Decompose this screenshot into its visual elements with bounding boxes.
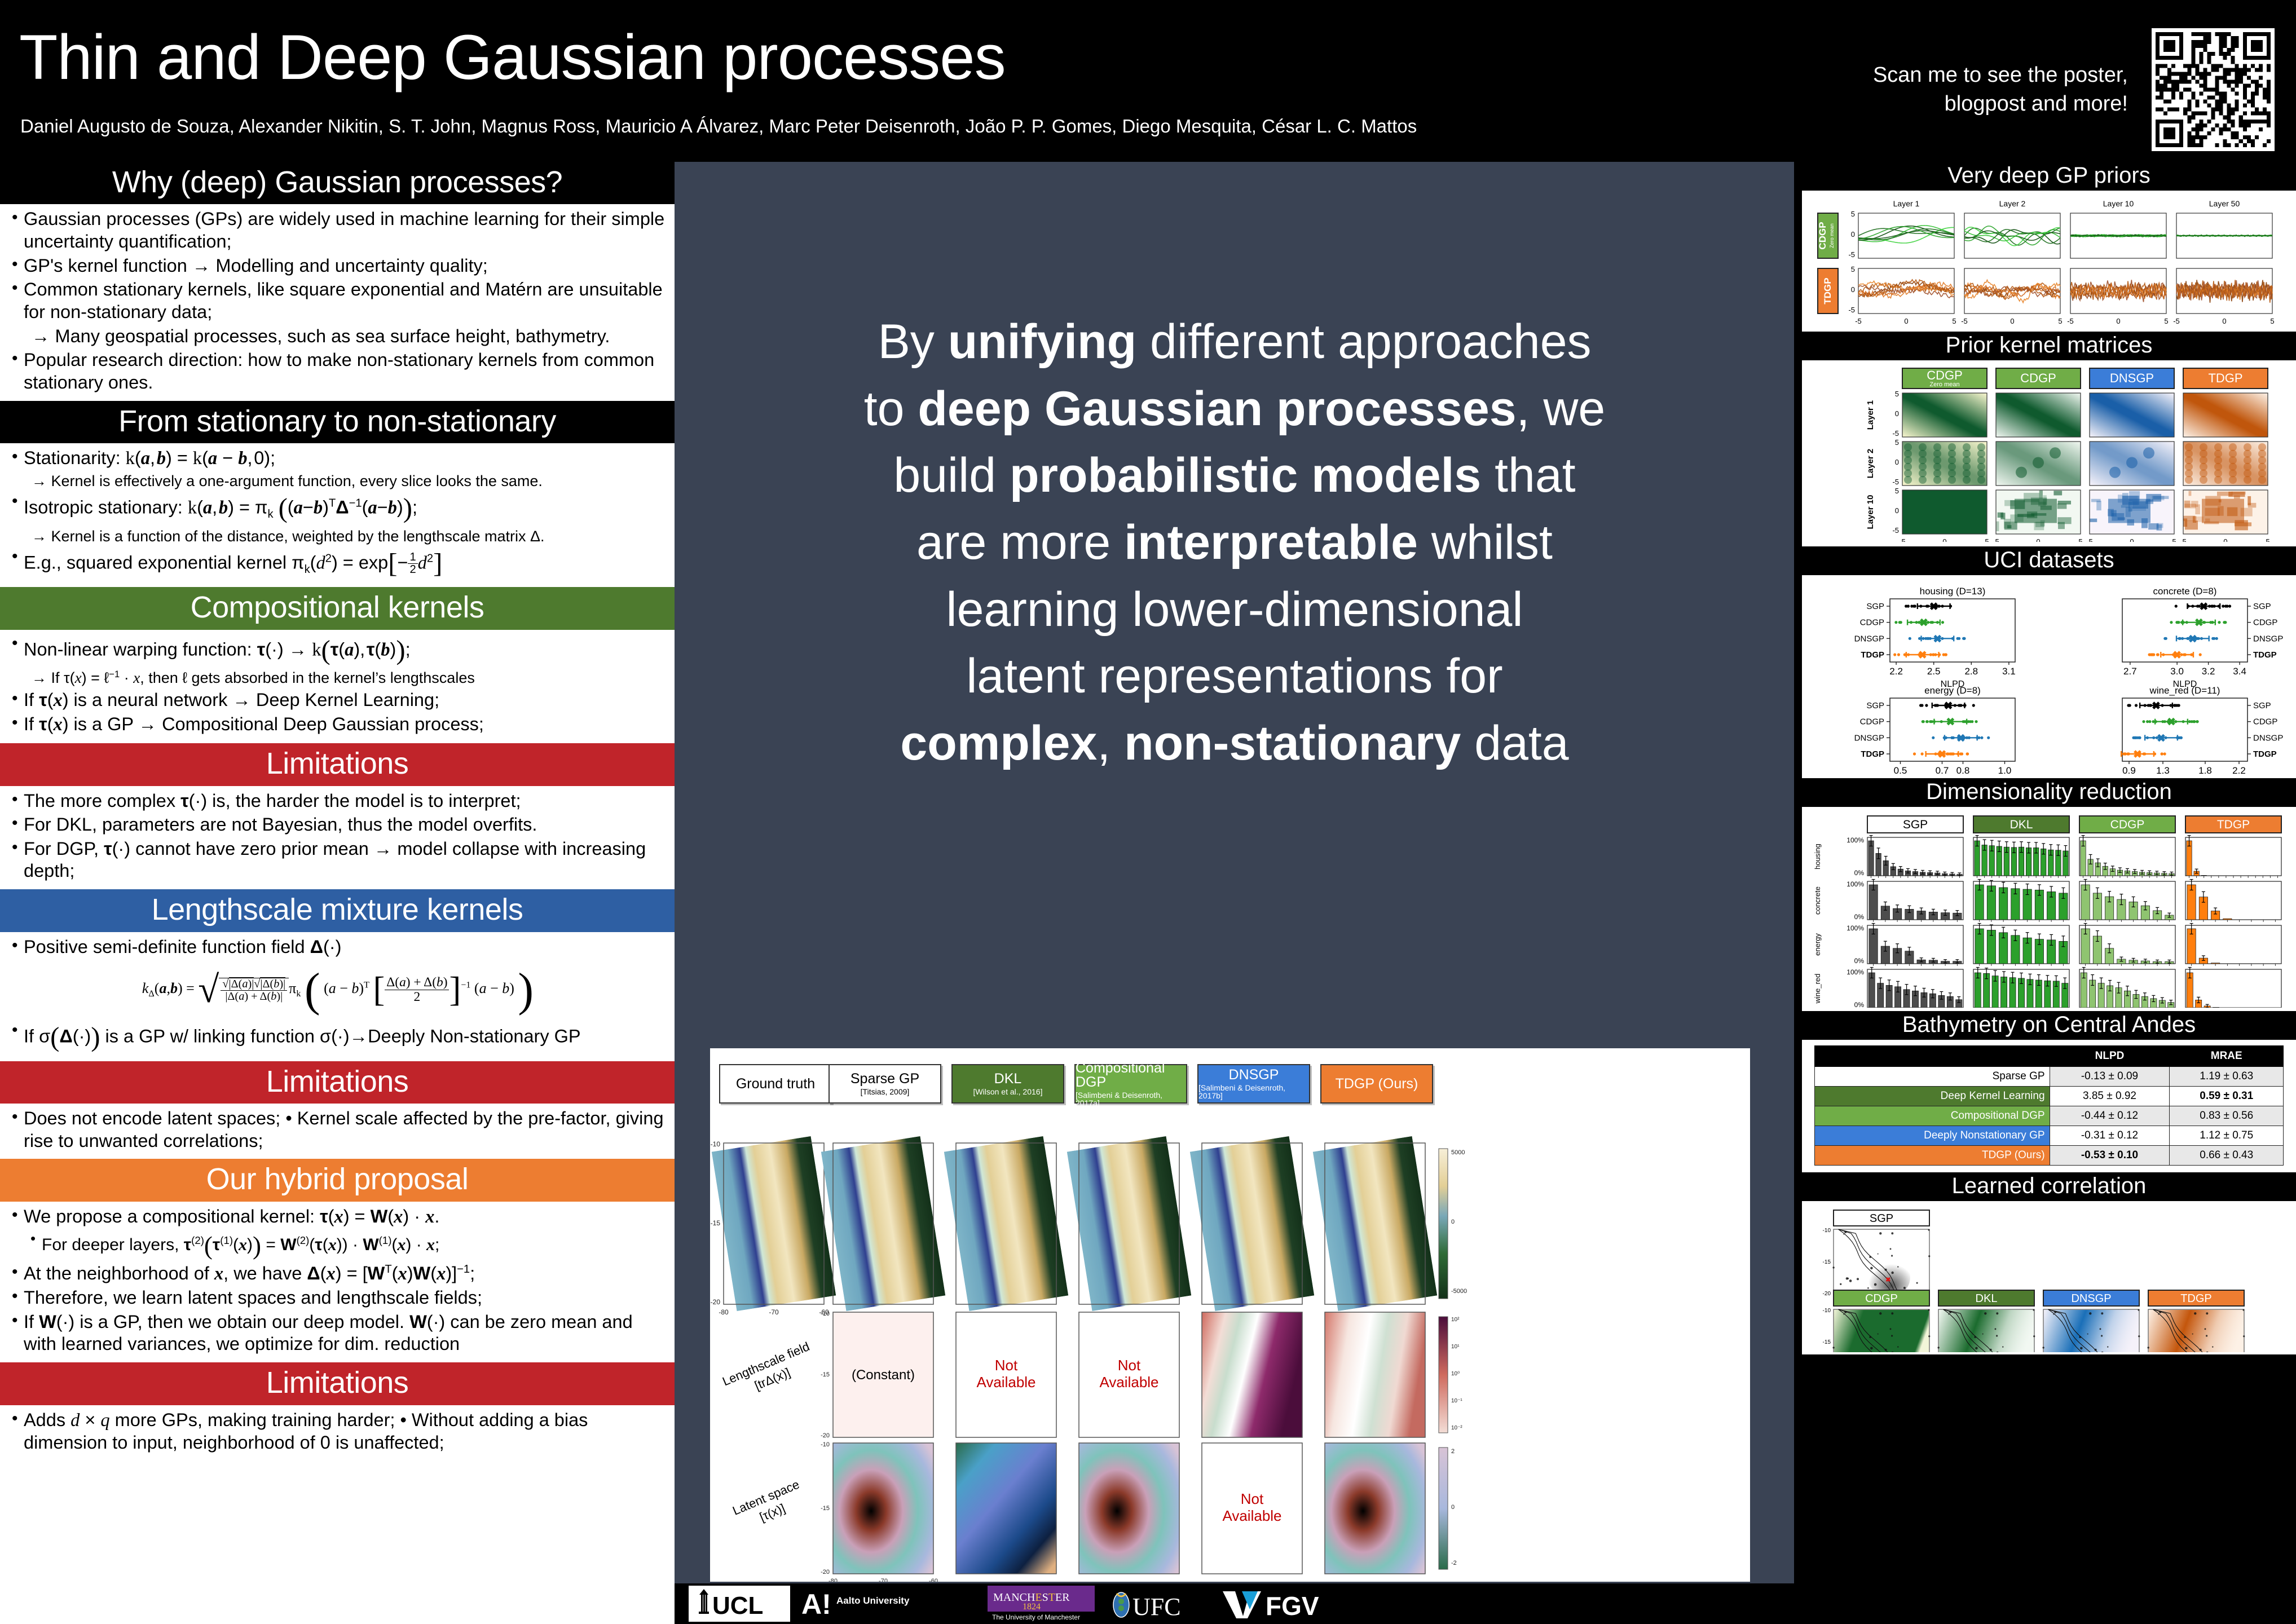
equation-lengthscale-mixture-kernel: kΔ(a,b) = √ √|Δ(a)|√|Δ(b)| |Δ(a) + Δ(b)|… (9, 960, 667, 1021)
svg-text:5: 5 (1851, 265, 1855, 273)
section-header-limitations-1: Limitations (0, 743, 675, 785)
svg-text:Available: Available (1099, 1374, 1158, 1391)
svg-text:10¹: 10¹ (1451, 1344, 1460, 1350)
page-title: Thin and Deep Gaussian processes (19, 26, 1006, 89)
svg-text:-70: -70 (769, 1308, 779, 1316)
svg-text:-5: -5 (1892, 478, 1899, 486)
svg-text:0: 0 (1895, 458, 1899, 466)
svg-text:3.2: 3.2 (2202, 666, 2215, 677)
svg-text:5: 5 (2164, 317, 2168, 325)
learned-correlation-svg: SGP✖-10-15-20CDGP✖-10-15-20-80-70-60DKL✖… (1806, 1204, 2291, 1352)
svg-text:✖: ✖ (2199, 601, 2208, 613)
table-cell-nlpd: -0.13 ± 0.09 (2050, 1067, 2170, 1087)
svg-text:DKL: DKL (2010, 818, 2033, 831)
svg-text:CDGP: CDGP (2253, 717, 2277, 727)
svg-text:TDGP: TDGP (2253, 650, 2277, 660)
svg-text:5: 5 (1895, 487, 1899, 495)
svg-text:2.2: 2.2 (2232, 765, 2246, 775)
svg-text:-15: -15 (821, 1371, 830, 1378)
svg-text:TDGP: TDGP (1861, 650, 1884, 660)
svg-text:CDGP: CDGP (1817, 222, 1828, 249)
figure-column-header-compositional-dgp: Compositional DGP[Salimbeni & Deisenroth… (1074, 1064, 1187, 1104)
svg-text:0%: 0% (1854, 957, 1865, 965)
column-header-label: Ground truth (736, 1077, 815, 1091)
right-column: Very deep GP priors Layer 1Layer 2Layer … (1794, 162, 2296, 1624)
svg-text:3.1: 3.1 (2002, 666, 2016, 677)
svg-text:TDGP: TDGP (2180, 1292, 2212, 1305)
manchester-logo-icon: MANCHESTER 1824 The University of Manche… (988, 1586, 1095, 1622)
svg-text:✖: ✖ (1918, 650, 1927, 661)
svg-text:wine_red (D=11): wine_red (D=11) (2149, 685, 2220, 696)
table-row: Compositional DGP-0.44 ± 0.120.83 ± 0.56 (1815, 1106, 2284, 1126)
svg-text:Available: Available (976, 1374, 1035, 1391)
list-item: Stationarity: k(a, b) = k(a − b, 0); (9, 447, 667, 470)
panel-uci-datasets: housing (D=13)SGP✖CDGP✖DNSGP✖TDGP✖2.22.5… (1802, 575, 2296, 778)
figure-column-header-dkl: DKL[Wilson et al., 2016] (951, 1064, 1064, 1104)
column-header-label: DKL (994, 1072, 1022, 1086)
svg-text:0: 0 (1904, 317, 1908, 325)
table-cell-model: Sparse GP (1815, 1067, 2050, 1087)
svg-text:-5: -5 (2086, 537, 2093, 542)
section-body-why-deep-gp: Gaussian processes (GPs) are widely used… (0, 204, 675, 400)
list-item: Adds d × q more GPs, making training har… (9, 1409, 667, 1454)
svg-text:5: 5 (1985, 537, 1989, 542)
list-item: For deeper layers, τ(2)(τ(1)(x)) = W(2)(… (9, 1230, 667, 1261)
svg-text:0: 0 (2222, 317, 2226, 325)
svg-text:SGP: SGP (1866, 602, 1884, 611)
table-cell-nlpd: -0.53 ± 0.10 (2050, 1146, 2170, 1166)
list-item: Does not encode latent spaces; • Kernel … (9, 1107, 667, 1152)
table-row: Sparse GP-0.13 ± 0.091.19 ± 0.63 (1815, 1067, 2284, 1087)
svg-text:UFC: UFC (1132, 1593, 1181, 1621)
svg-text:10²: 10² (1451, 1317, 1460, 1323)
svg-text:Layer 50: Layer 50 (2209, 199, 2240, 208)
svg-text:Zero mean: Zero mean (1929, 381, 1959, 388)
panel-very-deep-gp-priors: Layer 1Layer 2Layer 10Layer 50CDGPZero m… (1802, 191, 2296, 332)
svg-text:TDGP: TDGP (2208, 371, 2242, 385)
qr-caption-line2: blogpost and more! (1835, 90, 2128, 118)
very-deep-priors-svg: Layer 1Layer 2Layer 10Layer 50CDGPZero m… (1806, 194, 2291, 327)
section-header-compositional-kernels: Compositional kernels (0, 587, 675, 629)
bathymetry-results-table: NLPD MRAE Sparse GP-0.13 ± 0.091.19 ± 0.… (1814, 1045, 2284, 1166)
svg-text:-5: -5 (1892, 429, 1899, 438)
svg-text:1.0: 1.0 (1998, 765, 2012, 775)
list-item: If τ(x) is a neural network → Deep Kerne… (9, 689, 667, 712)
column-header-citation: [Titsias, 2009] (861, 1088, 910, 1096)
list-item: We propose a compositional kernel: τ(x) … (9, 1206, 667, 1229)
svg-text:✖: ✖ (1885, 1277, 1890, 1283)
svg-text:energy: energy (1813, 933, 1822, 956)
table-cell-mrae: 0.83 ± 0.56 (2170, 1106, 2284, 1126)
column-header-label: DNSGP (1229, 1068, 1279, 1082)
svg-text:-5: -5 (1892, 526, 1899, 535)
svg-text:housing (D=13): housing (D=13) (1920, 586, 1986, 597)
svg-text:✖: ✖ (1946, 717, 1955, 729)
svg-text:10⁻²: 10⁻² (1451, 1425, 1462, 1431)
section-body-stationary: Stationarity: k(a, b) = k(a − b, 0); → K… (0, 443, 675, 587)
table-cell-nlpd: -0.31 ± 0.12 (2050, 1126, 2170, 1146)
svg-text:Layer 10: Layer 10 (1866, 495, 1875, 529)
section-body-limitations-1: The more complex τ(·) is, the harder the… (0, 786, 675, 890)
svg-text:3.4: 3.4 (2233, 666, 2246, 677)
section-header-lengthscale-mixture: Lengthscale mixture kernels (0, 889, 675, 932)
svg-text:2.5: 2.5 (1927, 666, 1941, 677)
svg-text:-80: -80 (829, 1578, 838, 1582)
svg-text:0.5: 0.5 (1894, 765, 1907, 775)
svg-text:DKL: DKL (1976, 1292, 1998, 1305)
svg-text:-5: -5 (1848, 306, 1855, 314)
svg-text:0%: 0% (1854, 869, 1865, 877)
section-header-prior-kernel-matrices: Prior kernel matrices (1802, 332, 2296, 360)
svg-text:100%: 100% (1847, 880, 1864, 888)
svg-text:energy (D=8): energy (D=8) (1924, 685, 1981, 696)
svg-text:Layer 2: Layer 2 (1999, 199, 2026, 208)
section-header-dimensionality-reduction: Dimensionality reduction (1802, 778, 2296, 807)
table-cell-nlpd: -0.44 ± 0.12 (2050, 1106, 2170, 1126)
svg-text:CDGP: CDGP (1860, 717, 1884, 727)
svg-text:TDGP: TDGP (2253, 749, 2277, 759)
list-item: Isotropic stationary: k(a, b) = πk ((a−b… (9, 492, 667, 525)
svg-text:DNSGP: DNSGP (2253, 733, 2283, 743)
svg-text:✖: ✖ (2167, 717, 2176, 729)
svg-text:10⁻¹: 10⁻¹ (1451, 1398, 1462, 1404)
svg-text:2: 2 (1451, 1448, 1455, 1455)
svg-text:-5000: -5000 (1451, 1288, 1467, 1295)
svg-text:TDGP: TDGP (2217, 818, 2250, 831)
aalto-logo-icon: A! Aalto University (801, 1586, 951, 1622)
section-body-lengthscale-mixture: Positive semi-definite function field Δ(… (0, 932, 675, 1061)
svg-text:0: 0 (1851, 230, 1855, 239)
svg-text:Layer 2: Layer 2 (1866, 449, 1875, 479)
svg-text:-10: -10 (821, 1441, 830, 1448)
svg-text:5: 5 (2266, 537, 2269, 542)
hero-statement: By unifying different approaches to deep… (708, 308, 1761, 777)
svg-text:5000: 5000 (1451, 1149, 1465, 1156)
svg-text:-60: -60 (929, 1578, 938, 1582)
svg-text:✖: ✖ (2172, 650, 2182, 661)
svg-text:DNSGP: DNSGP (2071, 1292, 2111, 1305)
svg-text:0: 0 (1451, 1219, 1455, 1225)
qr-caption-line1: Scan me to see the poster, (1835, 61, 2128, 90)
column-header-citation: [Salimbeni & Deisenroth, 2017b] (1198, 1084, 1309, 1100)
figure-column-header-ground-truth: Ground truth (719, 1064, 832, 1104)
svg-text:SGP: SGP (1870, 1212, 1893, 1225)
svg-text:0: 0 (2036, 537, 2040, 542)
svg-text:1.3: 1.3 (2156, 765, 2170, 775)
svg-text:SGP: SGP (1866, 701, 1884, 710)
svg-text:-15: -15 (711, 1219, 721, 1227)
list-item: Therefore, we learn latent spaces and le… (9, 1287, 667, 1309)
list-item: Popular research direction: how to make … (9, 349, 667, 394)
table-cell-mrae: 0.66 ± 0.43 (2170, 1146, 2284, 1166)
section-body-limitations-3: Adds d × q more GPs, making training har… (0, 1405, 675, 1461)
table-row: Deep Kernel Learning3.85 ± 0.920.59 ± 0.… (1815, 1087, 2284, 1106)
svg-text:-5: -5 (2173, 317, 2180, 325)
table-cell-model: TDGP (Ours) (1815, 1146, 2050, 1166)
svg-text:0: 0 (1851, 285, 1855, 294)
svg-text:DNSGP: DNSGP (1854, 733, 1884, 743)
panel-dimensionality-reduction: SGPDKLCDGPTDGPhousing100%0%concrete100%0… (1802, 807, 2296, 1011)
svg-text:5: 5 (2270, 317, 2274, 325)
svg-text:1824: 1824 (1023, 1602, 1041, 1612)
list-item: E.g., squared exponential kernel πk(d2) … (9, 547, 667, 580)
svg-text:-20: -20 (1823, 1291, 1831, 1297)
list-item: Common stationary kernels, like square e… (9, 279, 667, 323)
svg-text:-2: -2 (1451, 1560, 1457, 1566)
svg-text:DNSGP: DNSGP (1854, 634, 1884, 643)
list-item: The more complex τ(·) is, the harder the… (9, 790, 667, 813)
svg-text:✖: ✖ (1938, 749, 1947, 761)
svg-text:3.0: 3.0 (2170, 666, 2184, 677)
svg-text:0: 0 (2010, 317, 2014, 325)
svg-text:Not: Not (995, 1357, 1018, 1374)
svg-text:TDGP: TDGP (1822, 277, 1833, 304)
svg-text:concrete (D=8): concrete (D=8) (2153, 586, 2217, 597)
svg-text:TDGP: TDGP (1861, 749, 1884, 759)
table-cell-nlpd: 3.85 ± 0.92 (2050, 1087, 2170, 1106)
svg-text:-70: -70 (879, 1578, 888, 1582)
panel-prior-kernel-matrices: CDGPZero meanCDGPDNSGPTDGPLayer 150-5Lay… (1802, 360, 2296, 546)
section-header-bathymetry: Bathymetry on Central Andes (1802, 1011, 2296, 1040)
list-item: → Many geospatial processes, such as sea… (9, 325, 667, 348)
list-item: For DKL, parameters are not Bayesian, th… (9, 814, 667, 836)
svg-text:-5: -5 (1848, 250, 1855, 259)
column-header-citation: [Wilson et al., 2016] (973, 1088, 1043, 1096)
svg-text:UCL: UCL (712, 1592, 763, 1619)
section-header-uci-datasets: UCI datasets (1802, 546, 2296, 575)
svg-text:CDGP: CDGP (1860, 618, 1884, 628)
svg-text:✖: ✖ (2133, 749, 2142, 761)
svg-text:✖: ✖ (1956, 732, 1966, 744)
svg-text:0: 0 (1942, 537, 1946, 542)
svg-text:2.2: 2.2 (1889, 666, 1903, 677)
list-item: For DGP, τ(·) cannot have zero prior mea… (9, 838, 667, 882)
svg-text:-5: -5 (1855, 317, 1862, 325)
svg-text:✖: ✖ (2152, 700, 2161, 712)
column-header-mrae: MRAE (2170, 1046, 2284, 1067)
figure-column-header-dnsgp: DNSGP[Salimbeni & Deisenroth, 2017b] (1197, 1064, 1310, 1104)
svg-text:Layer 10: Layer 10 (2103, 199, 2134, 208)
svg-text:CDGP: CDGP (2253, 618, 2277, 628)
svg-text:✖: ✖ (2157, 732, 2166, 744)
svg-text:5: 5 (1952, 317, 1956, 325)
svg-text:CDGP: CDGP (1927, 368, 1963, 382)
svg-text:-10: -10 (821, 1310, 830, 1317)
sponsor-logos: UCL A! Aalto University MANCHESTER 1824 … (675, 1583, 1794, 1624)
column-header-label: Compositional DGP (1076, 1061, 1186, 1089)
qr-block: Scan me to see the poster, blogpost and … (1795, 11, 2280, 152)
table-cell-mrae: 1.19 ± 0.63 (2170, 1067, 2284, 1087)
svg-text:-15: -15 (821, 1505, 830, 1512)
svg-text:CDGP: CDGP (2020, 371, 2056, 385)
svg-text:100%: 100% (1847, 924, 1864, 932)
svg-text:5: 5 (1895, 390, 1899, 398)
svg-text:0: 0 (2116, 317, 2120, 325)
section-header-learned-correlation: Learned correlation (1802, 1172, 2296, 1201)
svg-text:Not: Not (1241, 1490, 1264, 1507)
panel-learned-correlation: SGP✖-10-15-20CDGP✖-10-15-20-80-70-60DKL✖… (1802, 1201, 2296, 1354)
svg-text:✖: ✖ (2188, 633, 2197, 645)
svg-text:10⁰: 10⁰ (1451, 1371, 1460, 1377)
svg-text:0: 0 (2130, 537, 2134, 542)
svg-text:SGP: SGP (2253, 602, 2271, 611)
svg-text:CDGP: CDGP (2110, 818, 2145, 831)
svg-text:5: 5 (2078, 537, 2082, 542)
svg-text:2.7: 2.7 (2123, 666, 2137, 677)
svg-text:0.8: 0.8 (1956, 765, 1970, 775)
svg-text:-20: -20 (821, 1569, 830, 1576)
list-item: → Kernel is a function of the distance, … (9, 527, 667, 545)
list-item: If τ(x) is a GP → Compositional Deep Gau… (9, 713, 667, 736)
svg-text:-5: -5 (2180, 537, 2187, 542)
svg-text:✖: ✖ (1944, 700, 1953, 712)
table-header-row: NLPD MRAE (1815, 1046, 2284, 1067)
svg-text:-5: -5 (2067, 317, 2074, 325)
svg-text:Layer 1: Layer 1 (1893, 199, 1920, 208)
svg-text:(Constant): (Constant) (852, 1367, 915, 1383)
svg-text:100%: 100% (1847, 968, 1864, 976)
svg-text:DNSGP: DNSGP (2253, 634, 2283, 643)
svg-text:The University of Manchester: The University of Manchester (992, 1613, 1080, 1621)
svg-text:✖: ✖ (1919, 617, 1928, 629)
list-item: Gaussian processes (GPs) are widely used… (9, 208, 667, 253)
table-cell-model: Deep Kernel Learning (1815, 1087, 2050, 1106)
hero-line: to deep Gaussian processes, we (708, 376, 1761, 443)
svg-text:100%: 100% (1847, 836, 1864, 844)
svg-text:-20: -20 (821, 1432, 830, 1439)
svg-text:housing: housing (1813, 844, 1822, 870)
hero-line: learning lower-dimensional (708, 576, 1761, 643)
table-row: TDGP (Ours)-0.53 ± 0.100.66 ± 0.43 (1815, 1146, 2284, 1166)
svg-text:concrete: concrete (1813, 886, 1822, 915)
figure-column-header-tdgp-ours: TDGP (Ours) (1320, 1064, 1433, 1104)
svg-text:-5: -5 (1961, 317, 1968, 325)
svg-text:Zero mean: Zero mean (1829, 223, 1835, 248)
table-cell-mrae: 1.12 ± 0.75 (2170, 1126, 2284, 1146)
section-header-limitations-3: Limitations (0, 1362, 675, 1405)
svg-text:SGP: SGP (2253, 701, 2271, 710)
list-item: → Kernel is effectively a one-argument f… (9, 472, 667, 490)
hero-line: complex, non-stationary data (708, 710, 1761, 777)
svg-text:0: 0 (2223, 537, 2227, 542)
column-header-label: Sparse GP (850, 1072, 919, 1086)
hero-line: By unifying different approaches (708, 308, 1761, 376)
table-cell-model: Compositional DGP (1815, 1106, 2050, 1126)
svg-text:1.8: 1.8 (2198, 765, 2212, 775)
svg-text:5: 5 (1851, 210, 1855, 218)
svg-text:0.9: 0.9 (2122, 765, 2136, 775)
table-row: Deeply Nonstationary GP-0.31 ± 0.121.12 … (1815, 1126, 2284, 1146)
svg-text:-10: -10 (711, 1140, 721, 1148)
figure-column-header-sparse-gp: Sparse GP[Titsias, 2009] (829, 1064, 941, 1104)
svg-text:wine_red: wine_red (1813, 974, 1822, 1004)
svg-text:-20: -20 (711, 1298, 721, 1306)
list-item: If W(·) is a GP, then we obtain our deep… (9, 1311, 667, 1356)
panel-bathymetry-table: NLPD MRAE Sparse GP-0.13 ± 0.091.19 ± 0.… (1802, 1040, 2296, 1172)
section-header-hybrid-proposal: Our hybrid proposal (0, 1159, 675, 1201)
column-header-blank (1815, 1046, 2050, 1067)
svg-text:0: 0 (1895, 409, 1899, 418)
list-item: → If τ(x) = ℓ−1 · x, then ℓ gets absorbe… (9, 669, 667, 687)
hero-line: latent representations for (708, 643, 1761, 710)
section-header-why-deep-gp: Why (deep) Gaussian processes? (0, 162, 675, 204)
svg-text:CDGP: CDGP (1865, 1292, 1898, 1305)
section-body-hybrid-proposal: We propose a compositional kernel: τ(x) … (0, 1202, 675, 1362)
svg-text:FGV: FGV (1266, 1591, 1319, 1621)
svg-text:✖: ✖ (1933, 633, 1942, 645)
svg-text:5: 5 (2172, 537, 2176, 542)
svg-text:0.7: 0.7 (1936, 765, 1949, 775)
svg-text:Aalto University: Aalto University (836, 1595, 910, 1606)
svg-text:0%: 0% (1854, 913, 1865, 921)
table-cell-model: Deeply Nonstationary GP (1815, 1126, 2050, 1146)
fgv-logo-icon: FGV (1220, 1586, 1333, 1622)
svg-text:2.8: 2.8 (1964, 666, 1978, 677)
svg-text:-15: -15 (1823, 1339, 1831, 1345)
section-body-compositional-kernels: Non-linear warping function: τ(·) → k(τ(… (0, 630, 675, 743)
section-header-stationary: From stationary to non-stationary (0, 401, 675, 443)
svg-text:-5: -5 (1899, 537, 1906, 542)
list-item: At the neighborhood of x, we have Δ(x) =… (9, 1263, 667, 1286)
list-item: GP's kernel function → Modelling and unc… (9, 255, 667, 277)
author-list: Daniel Augusto de Souza, Alexander Nikit… (20, 116, 1417, 137)
table-cell-mrae: 0.59 ± 0.31 (2170, 1087, 2284, 1106)
svg-text:A!: A! (801, 1588, 831, 1620)
list-item: Positive semi-definite function field Δ(… (9, 936, 667, 959)
svg-text:-15: -15 (1823, 1259, 1831, 1265)
column-header-label: TDGP (Ours) (1336, 1077, 1418, 1091)
column-header-citation: [Salimbeni & Deisenroth, 2017a] (1076, 1091, 1186, 1107)
section-header-very-deep-gp-priors: Very deep GP priors (1802, 162, 2296, 191)
uci-svg: housing (D=13)SGP✖CDGP✖DNSGP✖TDGP✖2.22.5… (1806, 579, 2291, 775)
figure-svg: (Constant)NotAvailableNotAvailableNotAva… (710, 1048, 1750, 1582)
hero-line: are more interpretable whilst (708, 509, 1761, 576)
svg-text:DNSGP: DNSGP (2110, 371, 2154, 385)
svg-text:Not: Not (1118, 1357, 1141, 1374)
svg-text:-80: -80 (719, 1308, 729, 1316)
ufc-logo-icon: UFC (1109, 1586, 1210, 1622)
qr-code-icon[interactable] (2152, 28, 2275, 151)
qr-caption: Scan me to see the poster, blogpost and … (1835, 61, 2128, 119)
svg-text:✖: ✖ (1929, 601, 1938, 613)
dimred-svg: SGPDKLCDGPTDGPhousing100%0%concrete100%0… (1806, 810, 2291, 1008)
svg-text:0%: 0% (1854, 1001, 1865, 1008)
section-body-limitations-2: Does not encode latent spaces; • Kernel … (0, 1104, 675, 1159)
svg-text:SGP: SGP (1903, 818, 1928, 831)
svg-text:-10: -10 (1823, 1308, 1831, 1314)
svg-text:0: 0 (1895, 506, 1899, 515)
svg-text:✖: ✖ (2194, 617, 2204, 629)
center-column: By unifying different approaches to deep… (675, 162, 1794, 1624)
ucl-logo-icon: UCL (689, 1586, 790, 1622)
section-header-limitations-2: Limitations (0, 1061, 675, 1104)
left-column: Why (deep) Gaussian processes? Gaussian … (0, 162, 675, 1624)
svg-text:-5: -5 (1993, 537, 1999, 542)
svg-text:Layer 1: Layer 1 (1866, 400, 1875, 430)
svg-text:5: 5 (1895, 438, 1899, 447)
svg-text:Available: Available (1222, 1507, 1281, 1524)
model-comparison-figure: (Constant)NotAvailableNotAvailableNotAva… (710, 1048, 1750, 1582)
svg-text:5: 5 (2058, 317, 2062, 325)
svg-text:-10: -10 (1823, 1228, 1831, 1234)
list-item: If σ(Δ(·)) is a GP w/ linking function σ… (9, 1021, 667, 1054)
column-header-nlpd: NLPD (2050, 1046, 2170, 1067)
hero-line: build probabilistic models that (708, 442, 1761, 509)
prior-kernel-svg: CDGPZero meanCDGPDNSGPTDGPLayer 150-5Lay… (1806, 364, 2291, 542)
list-item: Non-linear warping function: τ(·) → k(τ(… (9, 634, 667, 667)
poster-header: Thin and Deep Gaussian processes Daniel … (0, 0, 2296, 162)
svg-text:0: 0 (1451, 1504, 1455, 1511)
